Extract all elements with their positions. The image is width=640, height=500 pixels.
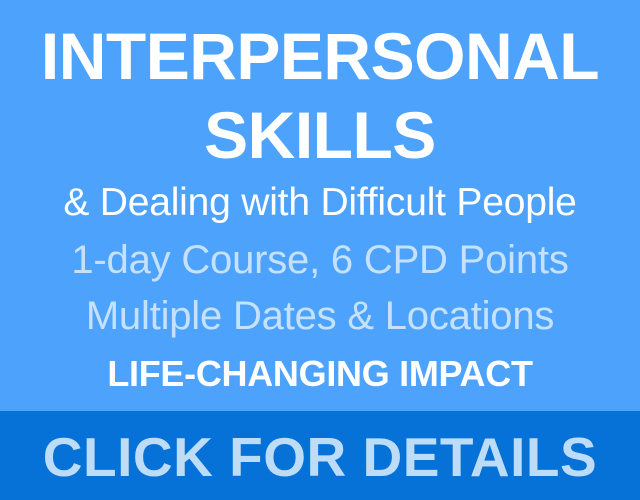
detail-line-dates-locations: Multiple Dates & Locations xyxy=(0,293,640,339)
subheadline: & Dealing with Difficult People xyxy=(0,181,640,225)
banner-content: INTERPERSONAL SKILLS & Dealing with Diff… xyxy=(0,0,640,411)
cta-bar[interactable]: CLICK FOR DETAILS xyxy=(0,411,640,500)
headline-line-1: INTERPERSONAL xyxy=(0,22,640,90)
cta-label: CLICK FOR DETAILS xyxy=(43,428,597,486)
headline-line-2: SKILLS xyxy=(0,101,640,169)
tagline: LIFE-CHANGING IMPACT xyxy=(0,354,640,394)
promotional-banner[interactable]: INTERPERSONAL SKILLS & Dealing with Diff… xyxy=(0,0,640,500)
detail-line-course-info: 1-day Course, 6 CPD Points xyxy=(0,237,640,283)
